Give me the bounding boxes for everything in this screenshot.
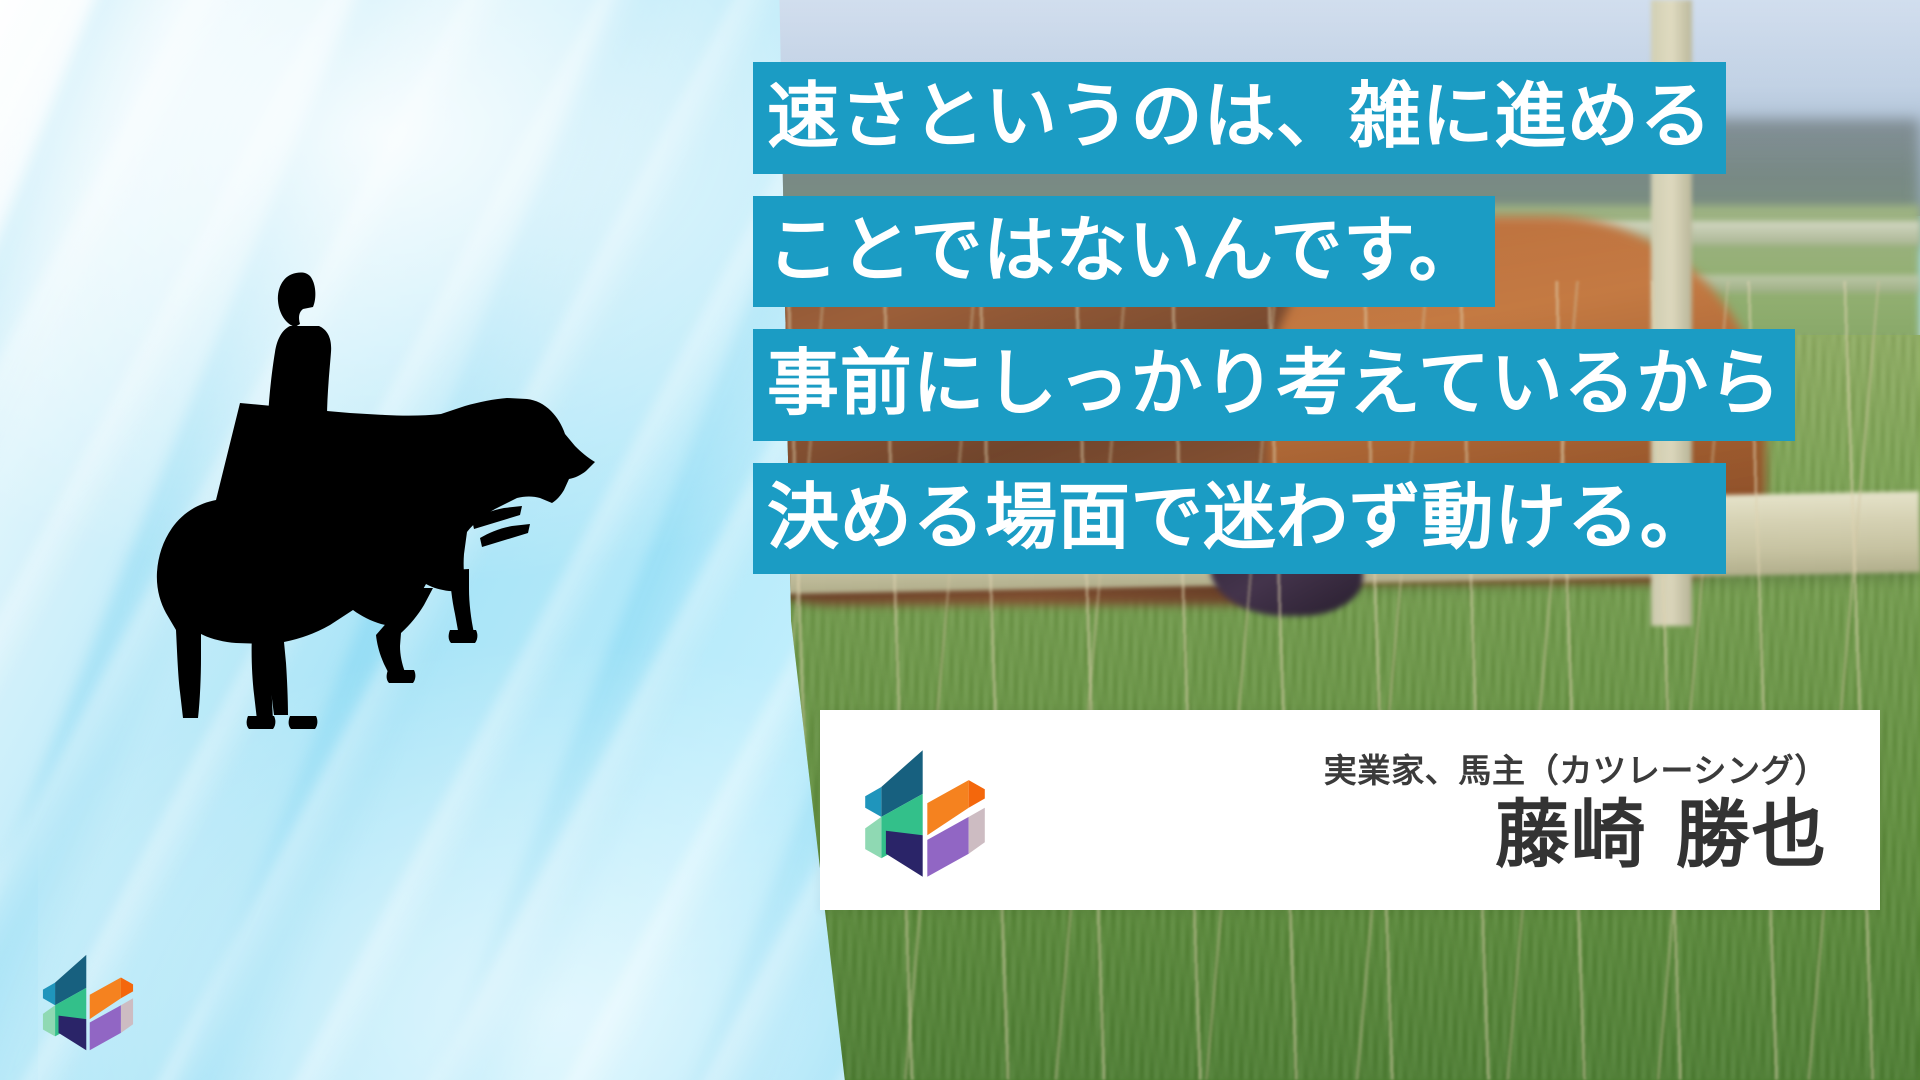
card-text-wrap: 実業家、馬主（カツレーシング） 藤崎 勝也: [1030, 744, 1880, 876]
speaker-role: 実業家、馬主（カツレーシング）: [1324, 744, 1828, 792]
card-logo-wrap: [820, 741, 1030, 879]
speaker-name: 藤崎 勝也: [1495, 796, 1828, 876]
horse-and-rider-silhouette-icon: [120, 270, 640, 730]
brand-diamond-logo-icon: [36, 948, 140, 1052]
quote-line-1: 速さというのは、雑に進める: [753, 62, 1726, 174]
quote-line-3: 事前にしっかり考えているから: [753, 329, 1795, 441]
corner-brand-logo: [36, 948, 140, 1052]
quote-line-4: 決める場面で迷わず動ける。: [753, 463, 1726, 575]
quote-block: 速さというのは、雑に進める ことではないんです。 事前にしっかり考えているから …: [753, 62, 1920, 596]
quote-line-2: ことではないんです。: [753, 196, 1495, 308]
brand-diamond-logo-icon: [856, 741, 994, 879]
speaker-name-card: 実業家、馬主（カツレーシング） 藤崎 勝也: [820, 710, 1880, 910]
slide-canvas: 速さというのは、雑に進める ことではないんです。 事前にしっかり考えているから …: [0, 0, 1920, 1080]
